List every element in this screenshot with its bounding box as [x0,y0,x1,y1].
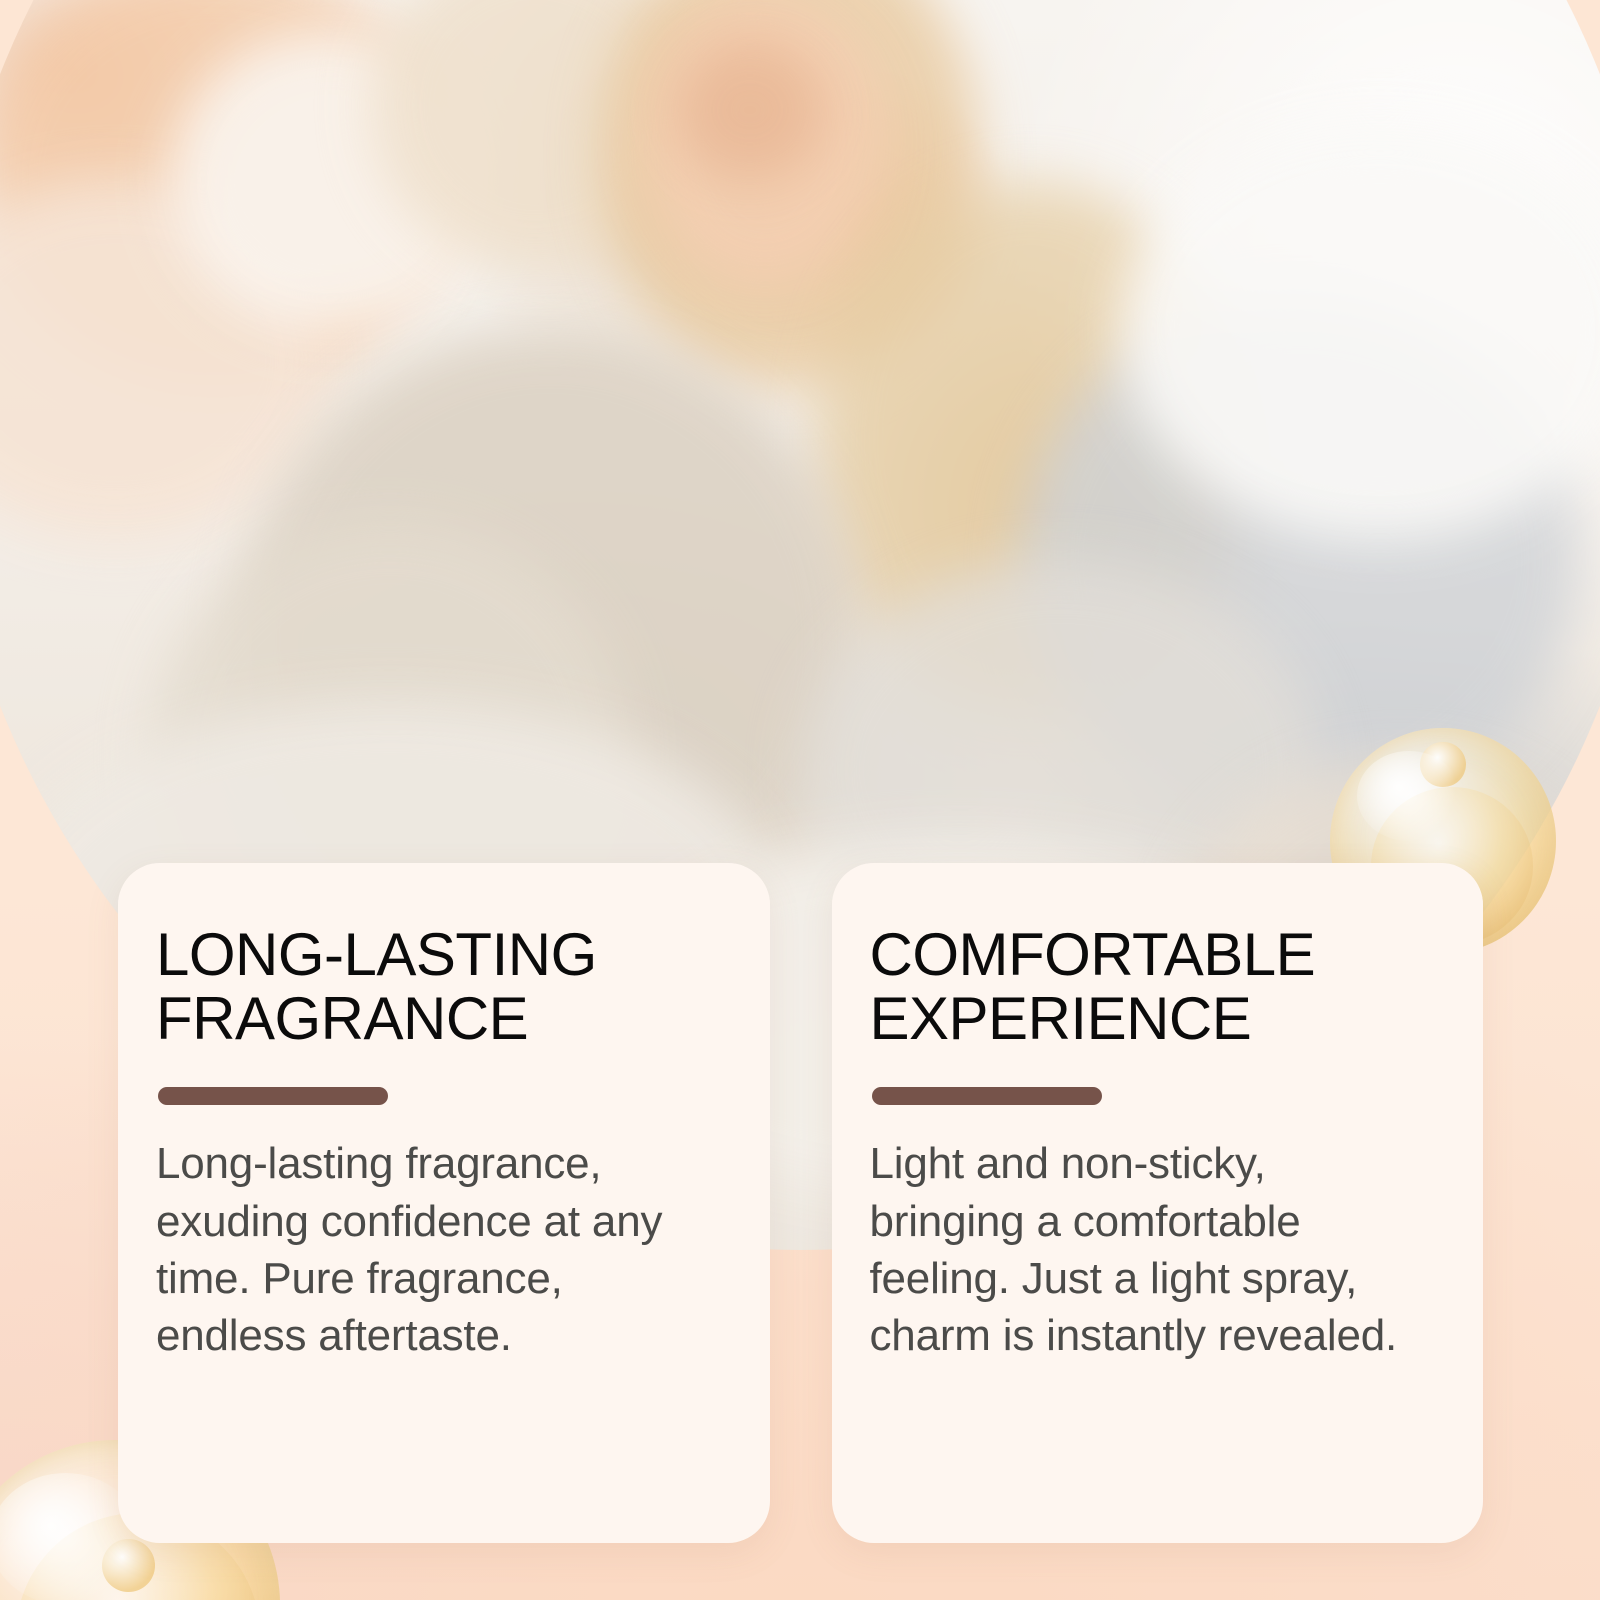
feature-card-divider [158,1087,388,1105]
feature-card-body: Light and non-sticky, bringing a comfort… [870,1135,1432,1364]
promo-canvas: LONG-LASTING FRAGRANCE Long-lasting frag… [0,0,1600,1600]
feature-cards: LONG-LASTING FRAGRANCE Long-lasting frag… [118,863,1483,1543]
feature-card-comfortable-experience[interactable]: COMFORTABLE EXPERIENCE Light and non-sti… [832,863,1484,1543]
oil-bubble-dot [1420,742,1465,787]
feature-card-body: Long-lasting fragrance, exuding confiden… [156,1135,718,1364]
feature-card-divider [872,1087,1102,1105]
feature-card-title: LONG-LASTING FRAGRANCE [156,923,718,1051]
feature-card-long-lasting-fragrance[interactable]: LONG-LASTING FRAGRANCE Long-lasting frag… [118,863,770,1543]
feature-card-title: COMFORTABLE EXPERIENCE [870,923,1432,1051]
oil-bubble-dot [102,1539,155,1592]
